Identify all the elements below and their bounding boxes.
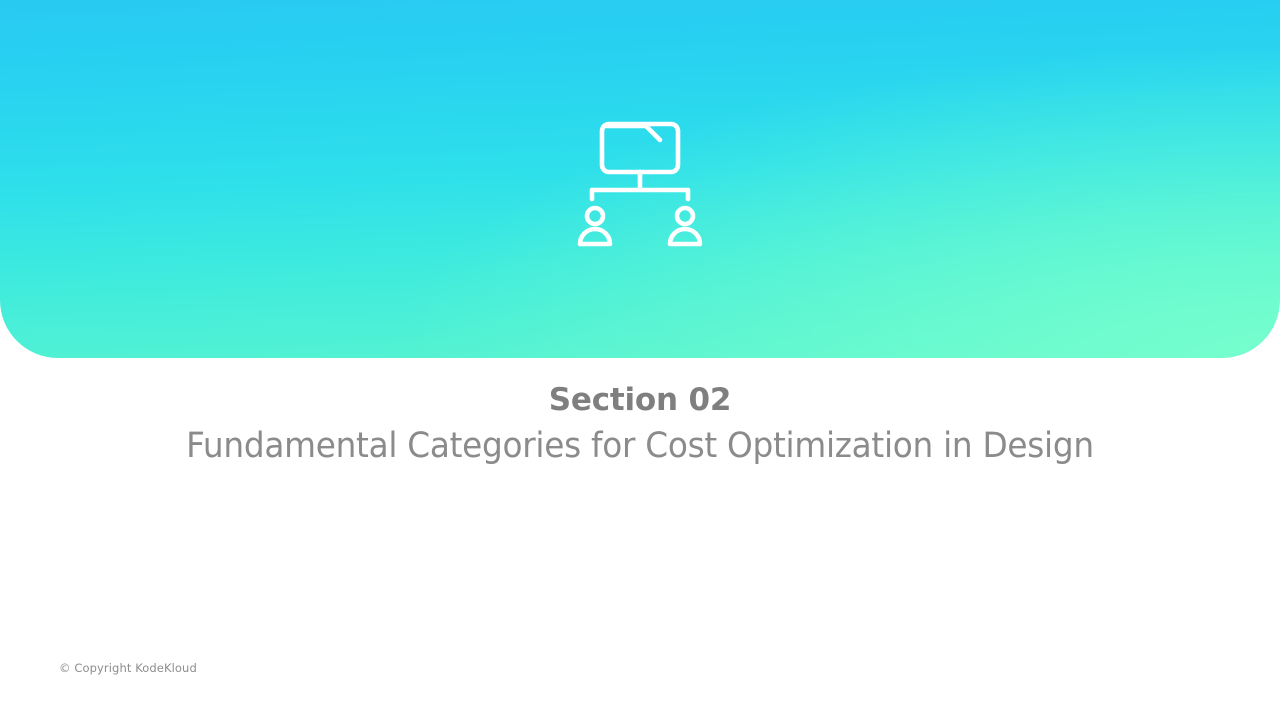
hero-gradient-surface bbox=[0, 0, 1280, 358]
page-title: Section 02 bbox=[0, 378, 1280, 422]
page-subtitle: Fundamental Categories for Cost Optimiza… bbox=[42, 422, 1239, 470]
presentation-slide: Section 02 Fundamental Categories for Co… bbox=[0, 0, 1280, 720]
folder-shared-hierarchy-icon bbox=[560, 98, 720, 263]
hero-banner bbox=[0, 0, 1280, 358]
slide-caption: Section 02 Fundamental Categories for Co… bbox=[0, 378, 1280, 470]
copyright-notice: © Copyright KodeKloud bbox=[59, 661, 197, 675]
